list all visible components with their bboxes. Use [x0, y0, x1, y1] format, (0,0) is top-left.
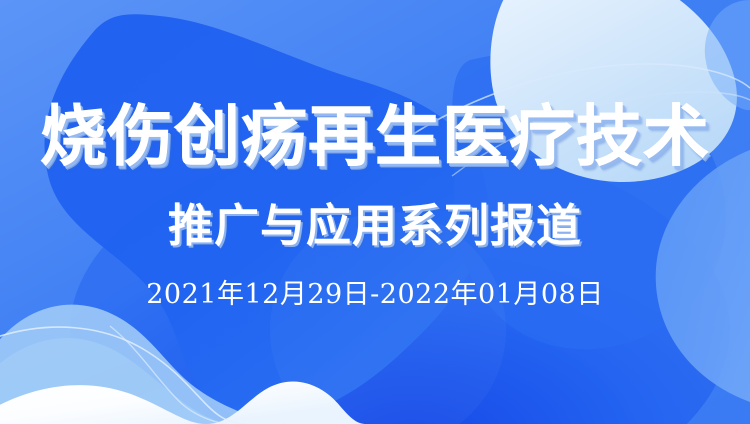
event-banner: 烧伤创疡再生医疗技术 推广与应用系列报道 2021年12月29日-2022年01… — [0, 0, 750, 424]
banner-sub-title: 推广与应用系列报道 — [0, 203, 750, 248]
banner-main-title: 烧伤创疡再生医疗技术 — [0, 104, 750, 170]
banner-date-range: 2021年12月29日-2022年01月08日 — [0, 280, 750, 310]
banner-text-layer: 烧伤创疡再生医疗技术 推广与应用系列报道 2021年12月29日-2022年01… — [0, 0, 750, 424]
